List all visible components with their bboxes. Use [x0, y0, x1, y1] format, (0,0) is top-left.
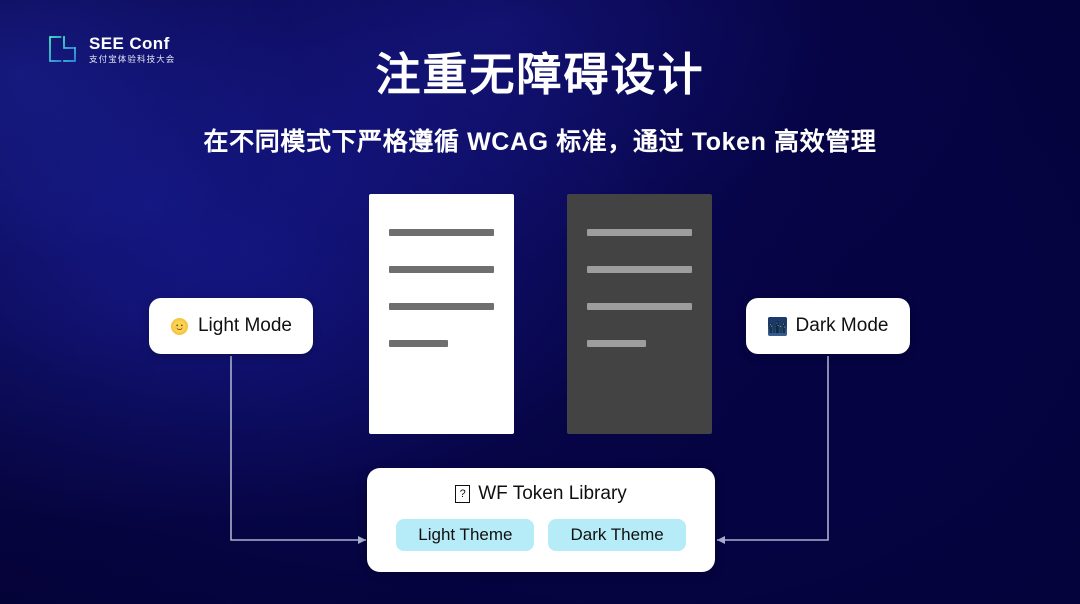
- token-library-title-row: ? WF Token Library: [455, 483, 627, 505]
- night-cityscape-emoji-icon: [768, 317, 787, 336]
- text-bar: [389, 340, 448, 347]
- token-library-title: WF Token Library: [478, 483, 627, 505]
- text-bar: [587, 229, 692, 236]
- dark-theme-pill[interactable]: Dark Theme: [548, 519, 685, 551]
- text-bar: [587, 303, 692, 310]
- light-mode-badge[interactable]: Light Mode: [149, 298, 313, 354]
- text-bar: [587, 266, 692, 273]
- light-document-preview: [369, 194, 514, 434]
- dark-document-preview: [567, 194, 712, 434]
- token-theme-pills: Light Theme Dark Theme: [396, 519, 685, 551]
- text-bar: [389, 303, 494, 310]
- sun-with-face-emoji-icon: [170, 317, 189, 336]
- page-subtitle: 在不同模式下严格遵循 WCAG 标准，通过 Token 高效管理: [0, 122, 1080, 158]
- dark-mode-badge-label: Dark Mode: [796, 315, 889, 337]
- text-bar: [389, 266, 494, 273]
- slide-root: SEE Conf 支付宝体验科技大会 注重无障碍设计 在不同模式下严格遵循 WC…: [0, 0, 1080, 604]
- token-library-card: ? WF Token Library Light Theme Dark Them…: [367, 468, 715, 572]
- text-bar: [587, 340, 646, 347]
- dark-mode-badge[interactable]: Dark Mode: [746, 298, 910, 354]
- missing-glyph-box-icon: ?: [455, 485, 470, 503]
- text-bar: [389, 229, 494, 236]
- page-title: 注重无障碍设计: [0, 38, 1080, 103]
- light-theme-pill[interactable]: Light Theme: [396, 519, 534, 551]
- light-mode-badge-label: Light Mode: [198, 315, 292, 337]
